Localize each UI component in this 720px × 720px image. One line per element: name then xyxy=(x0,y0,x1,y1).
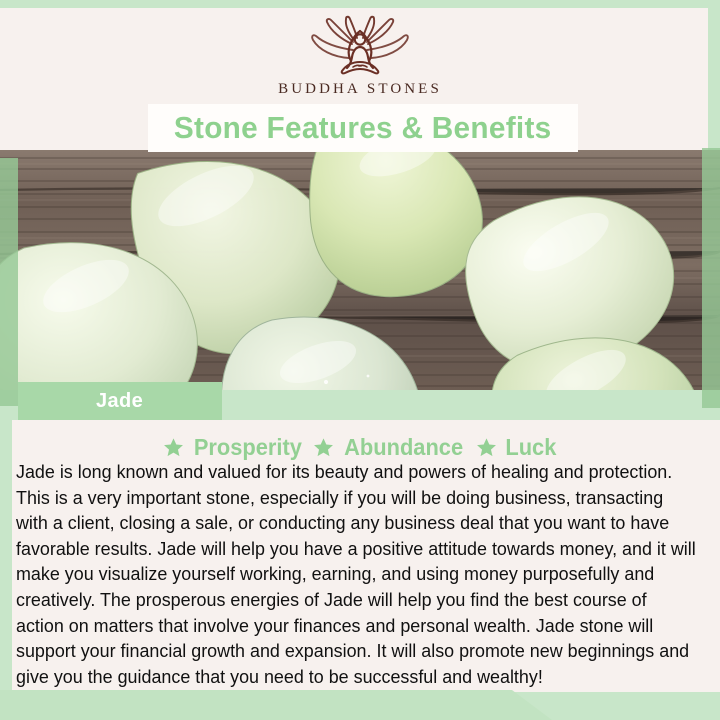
keyword-label: Luck xyxy=(505,434,556,461)
star-icon xyxy=(313,437,334,458)
bottom-accent-band xyxy=(0,690,720,720)
keyword-label: Prosperity xyxy=(194,434,302,461)
right-accent-strip xyxy=(702,148,720,408)
keyword-item: Prosperity xyxy=(163,434,305,461)
brand-logo: BUDDHA STONES xyxy=(0,14,720,110)
keyword-label: Abundance xyxy=(345,434,464,461)
infographic-poster: BUDDHA STONES Stone Features & Benefits xyxy=(0,0,720,720)
keyword-item: Luck xyxy=(476,434,558,461)
page-title: Stone Features & Benefits xyxy=(174,110,552,146)
stone-name-band: Jade xyxy=(18,382,222,420)
keyword-list: Prosperity Abundance Luck xyxy=(0,430,720,464)
left-accent-strip xyxy=(0,158,18,406)
keyword-item: Abundance xyxy=(313,434,466,461)
stone-description: Jade is long known and valued for its be… xyxy=(16,460,699,690)
star-icon xyxy=(476,437,497,458)
brand-name: BUDDHA STONES xyxy=(278,81,442,98)
stone-name: Jade xyxy=(96,390,143,413)
star-icon xyxy=(163,437,184,458)
title-banner: Stone Features & Benefits xyxy=(148,104,578,152)
lotus-meditating-figure-icon xyxy=(295,14,425,80)
stone-photo xyxy=(0,150,720,390)
